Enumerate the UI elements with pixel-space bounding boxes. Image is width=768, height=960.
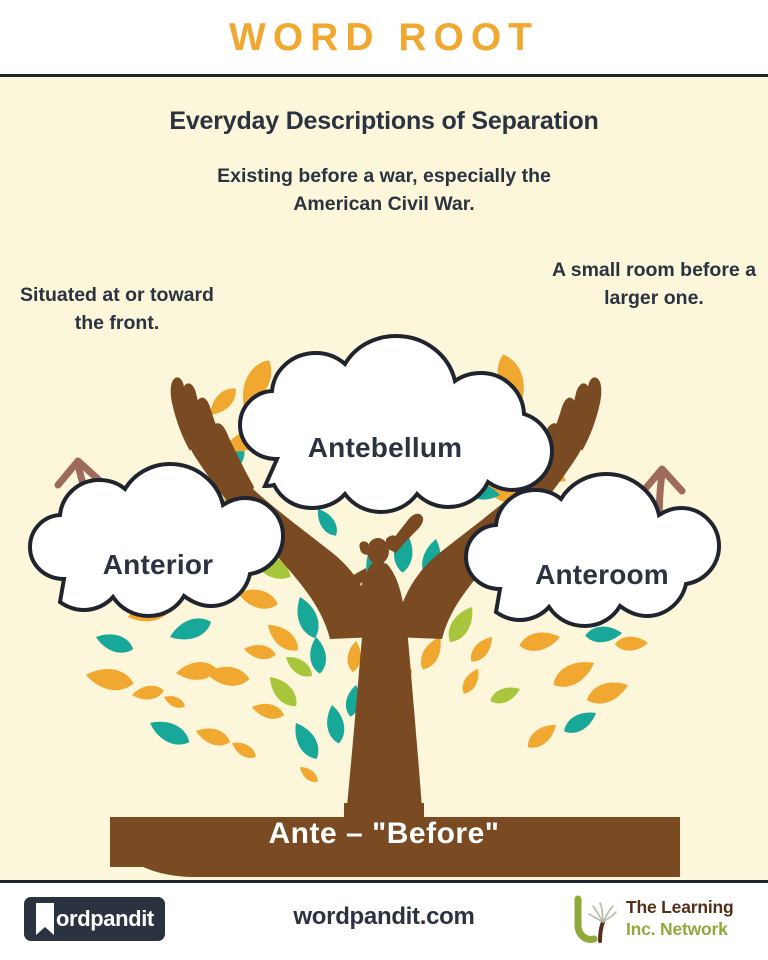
footer-band: ordpandit wordpandit.com The Learning In… [0,880,768,960]
cloud-label-anteroom: Anteroom [458,559,746,591]
tln-logo-line1: The Learning [626,897,733,918]
header-band: WORD ROOT [0,0,768,77]
cloud-label-anterior: Anterior [18,549,298,581]
cloud-anterior[interactable]: Anterior [18,495,298,627]
cloud-label-antebellum: Antebellum [222,432,548,464]
description-anteroom: A small room before a larger one. [548,257,760,312]
description-anterior: Situated at or toward the front. [4,282,230,337]
cloud-anteroom[interactable]: Anteroom [458,505,746,637]
tln-logo-line2: Inc. Network [626,919,728,940]
infographic-poster: WORD ROOT Everyday Descriptions of Separ… [0,0,768,960]
description-antebellum: Existing before a war, especially the Am… [214,163,554,218]
tln-mark-icon [570,895,622,945]
cloud-antebellum[interactable]: Antebellum [222,374,548,514]
root-banner-label: Ante – "Before" [0,817,768,851]
main-canvas: Everyday Descriptions of Separation [0,77,768,880]
page-title: WORD ROOT [229,18,539,57]
the-learning-inc-network-logo[interactable]: The Learning Inc. Network [570,895,750,945]
